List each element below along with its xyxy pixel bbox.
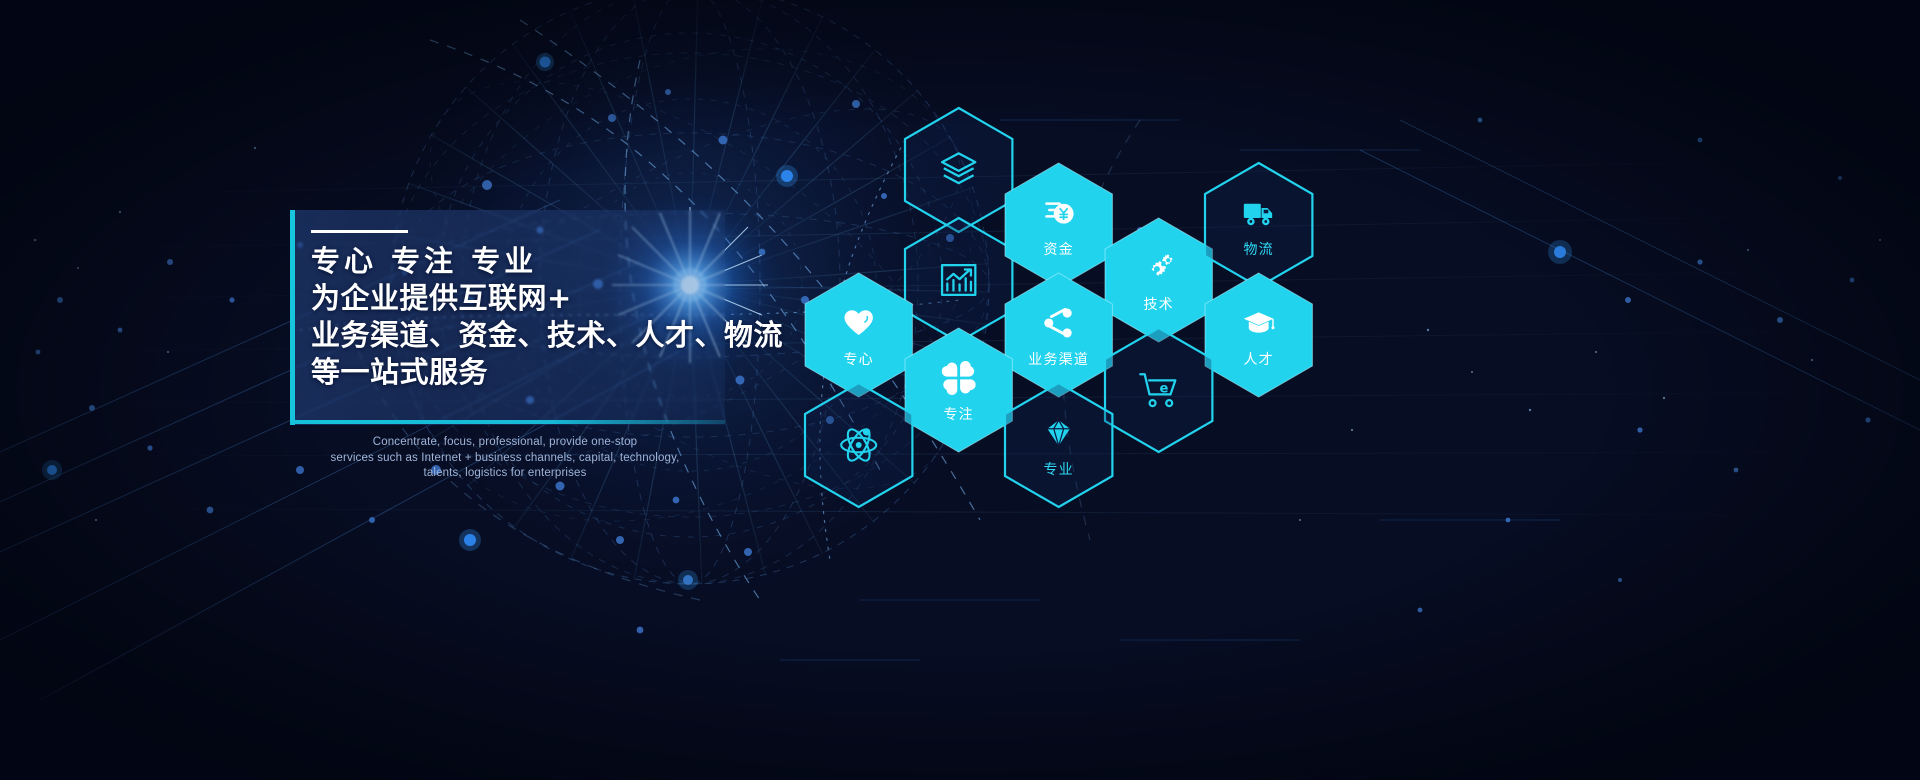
subtitle-english: Concentrate, focus, professional, provid… xyxy=(330,435,680,482)
hexagon-shape[interactable] xyxy=(1105,328,1212,452)
hexagon-shape[interactable] xyxy=(1005,163,1112,287)
headline-rule xyxy=(311,230,408,233)
headline-line-3: 业务渠道、资金、技术、人才、物流 xyxy=(311,317,741,354)
headline-line-4: 等一站式服务 xyxy=(311,354,741,391)
subtitle-line-2: services such as Internet + business cha… xyxy=(330,451,680,467)
hexagon-shape[interactable] xyxy=(905,108,1012,232)
subtitle-line-1: Concentrate, focus, professional, provid… xyxy=(330,435,680,451)
headline-line-1: 专心 专注 专业 xyxy=(311,243,741,280)
hexagon-shape[interactable] xyxy=(905,218,1012,342)
page-title: 专心 专注 专业 为企业提供互联网+ 业务渠道、资金、技术、人才、物流 等一站式… xyxy=(311,243,741,391)
hexagon-cluster: 资金技术物流人才专心业务渠道专注专业 xyxy=(740,108,1300,528)
hero-banner: 专心 专注 专业 为企业提供互联网+ 业务渠道、资金、技术、人才、物流 等一站式… xyxy=(0,0,1920,780)
hexagon-shape[interactable] xyxy=(805,273,912,397)
headline-line-2: 为企业提供互联网+ xyxy=(311,280,741,317)
hexagon-shape[interactable] xyxy=(1205,163,1312,287)
hexagon-shape[interactable] xyxy=(1205,273,1312,397)
hexagon-shape[interactable] xyxy=(1105,218,1212,342)
hexagon-shape[interactable] xyxy=(905,328,1012,452)
hexagon-shape[interactable] xyxy=(1005,383,1112,507)
panel-underline xyxy=(290,420,725,424)
hexagon-shape[interactable] xyxy=(1005,273,1112,397)
hexagon-shape[interactable] xyxy=(805,383,912,507)
subtitle-line-3: talents, logistics for enterprises xyxy=(330,466,680,482)
